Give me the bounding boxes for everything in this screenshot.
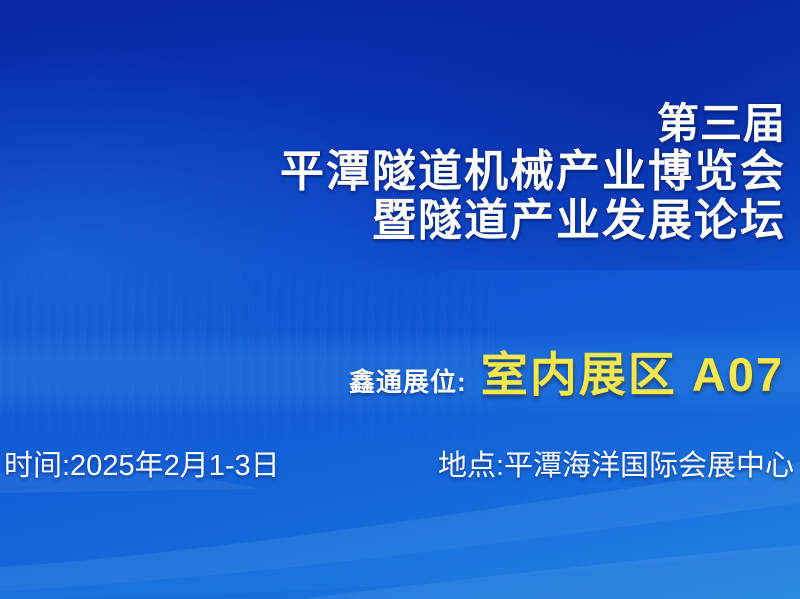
title-block: 第三届 平潭隧道机械产业博览会 暨隧道产业发展论坛 xyxy=(0,100,786,246)
poster-content: 第三届 平潭隧道机械产业博览会 暨隧道产业发展论坛 鑫通展位: 室内展区 A07… xyxy=(0,0,800,599)
footer-row: 时间:2025年2月1-3日 地点:平潭海洋国际会展中心 xyxy=(4,442,794,484)
event-venue: 地点:平潭海洋国际会展中心 xyxy=(438,442,794,484)
booth-label: 鑫通展位: xyxy=(349,362,467,399)
booth-row: 鑫通展位: 室内展区 A07 xyxy=(0,336,784,405)
booth-number: 室内展区 A07 xyxy=(481,336,784,405)
event-date: 时间:2025年2月1-3日 xyxy=(4,442,280,484)
event-poster: 第三届 平潭隧道机械产业博览会 暨隧道产业发展论坛 鑫通展位: 室内展区 A07… xyxy=(0,0,800,599)
title-line-expo-name: 平潭隧道机械产业博览会 xyxy=(0,147,786,196)
title-line-forum-name: 暨隧道产业发展论坛 xyxy=(0,196,786,245)
title-line-edition: 第三届 xyxy=(0,100,786,147)
